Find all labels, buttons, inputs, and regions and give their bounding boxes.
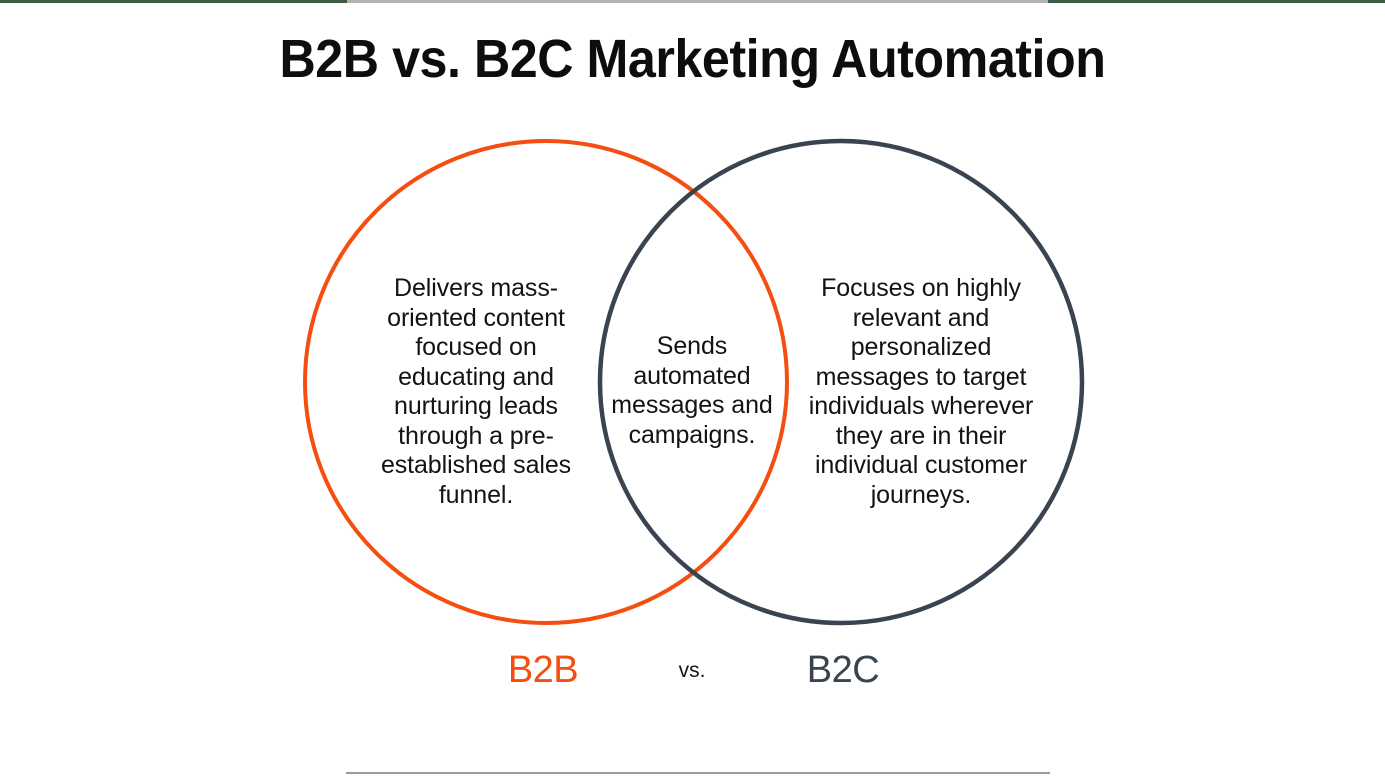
- venn-right-description: Focuses on highly relevant and personali…: [806, 274, 1036, 510]
- venn-overlap-description: Sends automated messages and campaigns.: [608, 332, 776, 450]
- bottom-divider-rule: [346, 772, 1050, 774]
- venn-left-description: Delivers mass-oriented content focused o…: [378, 274, 574, 510]
- venn-label-b2c: B2C: [730, 648, 956, 692]
- venn-diagram: Delivers mass-oriented content focused o…: [0, 0, 1385, 784]
